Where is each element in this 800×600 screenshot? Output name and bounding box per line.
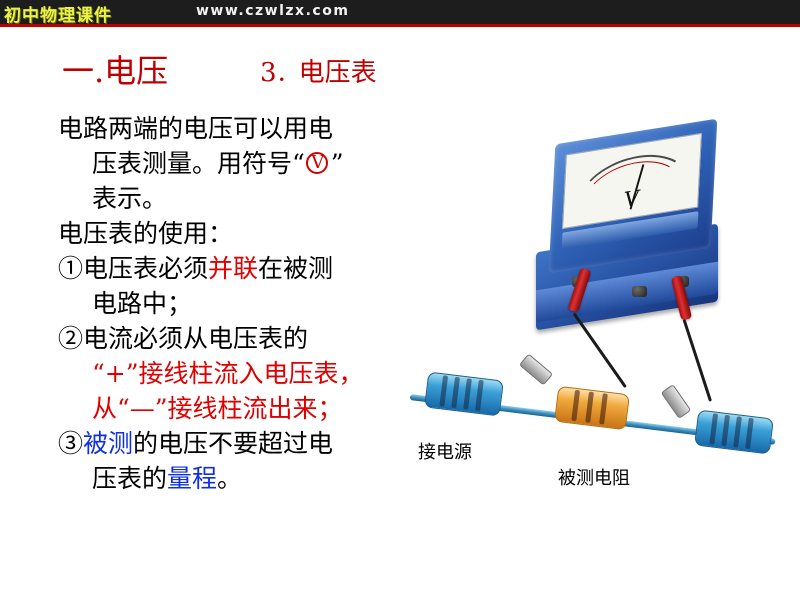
section-subtitle: 3．电压表	[260, 52, 377, 89]
resistor-left	[424, 372, 504, 417]
banner-divider	[0, 24, 800, 27]
paragraph-3-line-2: 电路中；	[58, 287, 418, 321]
paragraph-3-line-1: ①电压表必须并联在被测	[58, 252, 418, 286]
p1-text-a: 压表测量。用符号“	[92, 149, 305, 178]
slide-heading: 一.电压 3．电压表	[62, 46, 582, 90]
p5-text-b: 的电压不要超过电	[133, 429, 333, 458]
p5-text-a: ③	[58, 429, 83, 458]
voltmeter-circuit-illustration: V 接电源 被测电阻	[408, 126, 792, 506]
paragraph-1-line-1: 电路两端的电压可以用电	[58, 112, 418, 146]
p3-text-b: 在被测	[258, 254, 333, 283]
section-dot: ．	[277, 62, 299, 87]
paragraph-5-line-2: 压表的量程。	[58, 462, 418, 496]
voltmeter-device: V	[528, 126, 733, 341]
paragraph-1-line-2: 压表测量。用符号“V”	[58, 147, 418, 181]
top-banner: 初中物理课件 www.czwlzx.com	[0, 0, 800, 24]
paragraph-2: 电压表的使用：	[58, 217, 418, 251]
voltmeter-symbol-icon: V	[305, 151, 331, 177]
slide-canvas: 初中物理课件 www.czwlzx.com 一.电压 3．电压表 电路两端的电压…	[0, 0, 800, 600]
resistor-middle-measured	[554, 386, 630, 431]
section-number: 3	[260, 58, 277, 88]
paragraph-1-line-3: 表示。	[58, 182, 418, 216]
paragraph-4-line-3: 从“—”接线柱流出来；	[58, 392, 418, 426]
label-power-source: 接电源	[418, 438, 472, 464]
p1-text-b: ”	[331, 149, 344, 178]
p5-text-c: 压表的	[92, 464, 167, 493]
resistor-right	[694, 410, 774, 455]
page-title: 一.电压	[62, 46, 168, 92]
label-measured-resistor: 被测电阻	[558, 464, 630, 490]
meter-terminal-common	[632, 286, 647, 297]
paragraph-4-line-2: “+”接线柱流入电压表，	[58, 357, 418, 391]
p5-text-d: 。	[217, 464, 242, 493]
lesson-body-text: 电路两端的电压可以用电 压表测量。用符号“V” 表示。 电压表的使用： ①电压表…	[58, 112, 418, 497]
site-logo-text: 初中物理课件	[4, 1, 112, 24]
p5-highlight-range: 量程	[167, 464, 217, 493]
p5-highlight-measured: 被测	[83, 429, 133, 458]
voltmeter-symbol-letter: V	[305, 151, 331, 175]
p3-highlight-parallel: 并联	[208, 254, 258, 283]
site-url-text: www.czwlzx.com	[196, 3, 349, 19]
alligator-clip-left	[519, 353, 553, 385]
paragraph-5-line-1: ③被测的电压不要超过电	[58, 427, 418, 461]
section-label: 电压表	[299, 58, 377, 88]
p3-text-a: ①电压表必须	[58, 254, 208, 283]
paragraph-4-line-1: ②电流必须从电压表的	[58, 322, 418, 356]
alligator-clip-right	[661, 384, 692, 419]
